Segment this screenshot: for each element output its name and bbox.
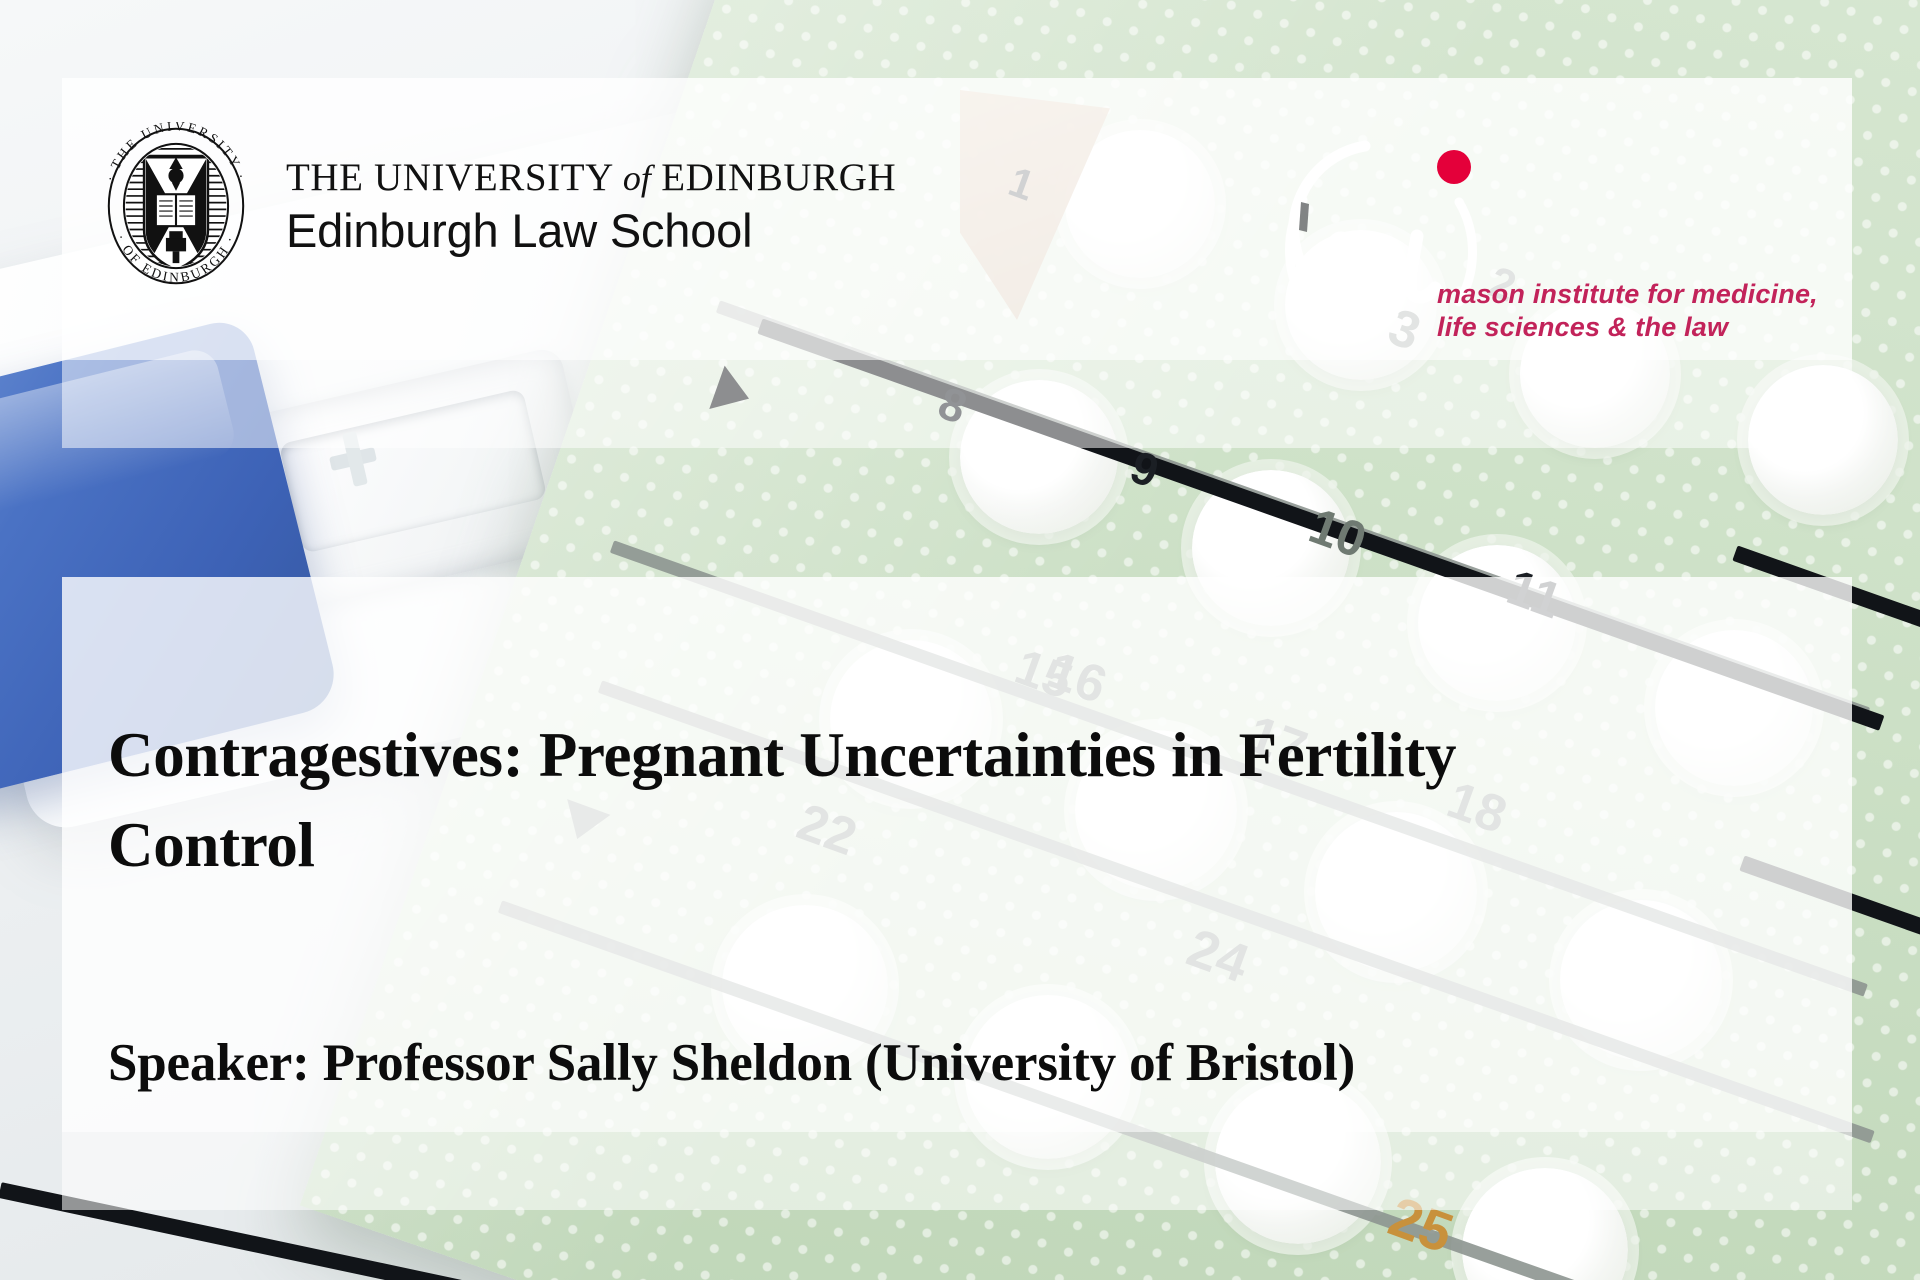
event-poster: 1 2 3 8 9 10 11 15 16 17 18 22 24 25 · T… — [0, 0, 1920, 1280]
edinburgh-wordmark-line1-post: EDINBURGH — [651, 156, 896, 199]
mason-institute-logo: mason institute for medicine, life scien… — [1245, 128, 1865, 358]
content-overlay-panel-fade — [62, 1132, 1852, 1210]
mason-institute-tagline-line1: mason institute for medicine, — [1437, 278, 1818, 311]
university-of-edinburgh-logo: · THE UNIVERSITY · · OF EDINBURGH · — [92, 122, 896, 290]
edinburgh-law-school-label: Edinburgh Law School — [286, 207, 896, 254]
header-overlay-panel-fade — [62, 360, 1852, 448]
edinburgh-wordmark-line1: THE UNIVERSITY of EDINBURGH — [286, 158, 896, 197]
mason-institute-tagline-line2: life sciences & the law — [1437, 311, 1818, 344]
event-title: Contragestives: Pregnant Uncertainties i… — [108, 710, 1608, 890]
edinburgh-wordmark: THE UNIVERSITY of EDINBURGH Edinburgh La… — [286, 158, 896, 254]
university-of-edinburgh-crest-icon: · THE UNIVERSITY · · OF EDINBURGH · — [92, 122, 260, 290]
event-speaker-line: Speaker: Professor Sally Sheldon (Univer… — [108, 1030, 1728, 1096]
mason-institute-red-dot-icon — [1437, 150, 1471, 184]
edinburgh-wordmark-line1-pre: THE UNIVERSITY — [286, 156, 623, 199]
edinburgh-wordmark-line1-of: of — [623, 158, 651, 198]
mason-institute-tagline: mason institute for medicine, life scien… — [1437, 278, 1818, 344]
